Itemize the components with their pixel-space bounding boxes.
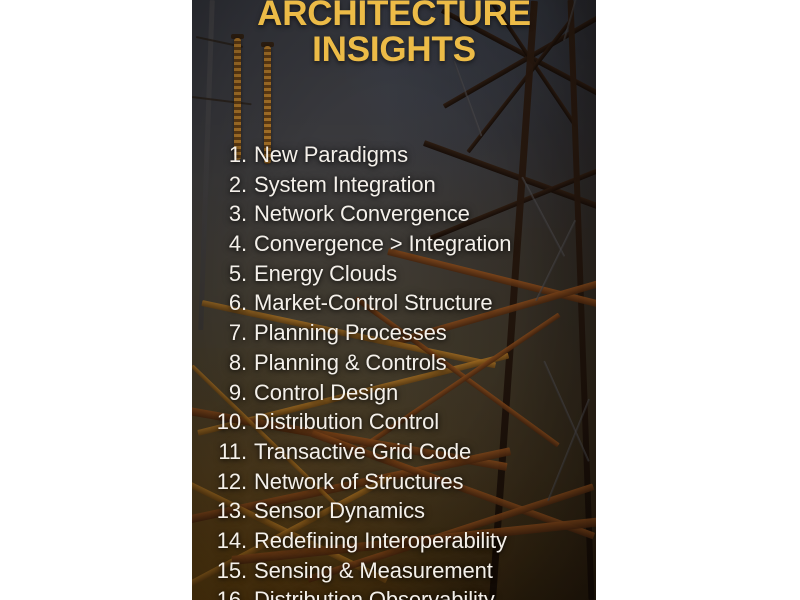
list-item-label: Market-Control Structure bbox=[254, 290, 492, 316]
list-item-number: 5. bbox=[192, 261, 254, 287]
list-item: 9. Control Design bbox=[192, 380, 596, 410]
list-item-label: Network of Structures bbox=[254, 469, 463, 495]
poster-title-line-2: ARCHITECTURE bbox=[192, 0, 596, 32]
list-item-number: 10. bbox=[192, 409, 254, 435]
list-item-label: Energy Clouds bbox=[254, 261, 397, 287]
list-item: 13. Sensor Dynamics bbox=[192, 498, 596, 528]
list-item-number: 7. bbox=[192, 320, 254, 346]
list-item: 10. Distribution Control bbox=[192, 409, 596, 439]
list-item-number: 12. bbox=[192, 469, 254, 495]
list-item-label: New Paradigms bbox=[254, 142, 408, 168]
list-item-number: 15. bbox=[192, 558, 254, 584]
list-item: 4. Convergence > Integration bbox=[192, 231, 596, 261]
grid-architecture-poster: 17 GRID ARCHITECTURE INSIGHTS 1. New Par… bbox=[192, 0, 596, 600]
list-item: 3. Network Convergence bbox=[192, 201, 596, 231]
list-item-number: 14. bbox=[192, 528, 254, 554]
list-item-number: 1. bbox=[192, 142, 254, 168]
list-item-number: 8. bbox=[192, 350, 254, 376]
list-item: 2. System Integration bbox=[192, 172, 596, 202]
list-item-label: Network Convergence bbox=[254, 201, 470, 227]
insights-list: 1. New Paradigms 2. System Integration 3… bbox=[192, 142, 596, 600]
list-item-label: Sensor Dynamics bbox=[254, 498, 425, 524]
poster-content: 17 GRID ARCHITECTURE INSIGHTS 1. New Par… bbox=[192, 0, 596, 600]
list-item: 7. Planning Processes bbox=[192, 320, 596, 350]
list-item-label: Planning & Controls bbox=[254, 350, 447, 376]
list-item: 14. Redefining Interoperability bbox=[192, 528, 596, 558]
list-item: 6. Market-Control Structure bbox=[192, 290, 596, 320]
list-item-number: 2. bbox=[192, 172, 254, 198]
list-item-label: Transactive Grid Code bbox=[254, 439, 471, 465]
list-item-label: Convergence > Integration bbox=[254, 231, 511, 257]
list-item-number: 4. bbox=[192, 231, 254, 257]
list-item-label: Distribution Control bbox=[254, 409, 439, 435]
list-item-number: 11. bbox=[192, 439, 254, 465]
poster-title: 17 GRID ARCHITECTURE INSIGHTS bbox=[192, 0, 596, 68]
list-item-label: Sensing & Measurement bbox=[254, 558, 493, 584]
list-item-label: Distribution Observability bbox=[254, 587, 495, 600]
list-item-label: Control Design bbox=[254, 380, 398, 406]
list-item-label: Redefining Interoperability bbox=[254, 528, 507, 554]
list-item: 15. Sensing & Measurement bbox=[192, 558, 596, 588]
list-item: 11. Transactive Grid Code bbox=[192, 439, 596, 469]
list-item-number: 13. bbox=[192, 498, 254, 524]
list-item-number: 9. bbox=[192, 380, 254, 406]
list-item: 16. Distribution Observability bbox=[192, 587, 596, 600]
poster-title-line-3: INSIGHTS bbox=[192, 32, 596, 68]
list-item-number: 3. bbox=[192, 201, 254, 227]
list-item: 12. Network of Structures bbox=[192, 469, 596, 499]
list-item: 8. Planning & Controls bbox=[192, 350, 596, 380]
list-item-number: 6. bbox=[192, 290, 254, 316]
screenshot-canvas: 17 GRID ARCHITECTURE INSIGHTS 1. New Par… bbox=[0, 0, 800, 600]
list-item: 5. Energy Clouds bbox=[192, 261, 596, 291]
list-item-number: 16. bbox=[192, 587, 254, 600]
list-item-label: Planning Processes bbox=[254, 320, 447, 346]
list-item: 1. New Paradigms bbox=[192, 142, 596, 172]
list-item-label: System Integration bbox=[254, 172, 436, 198]
